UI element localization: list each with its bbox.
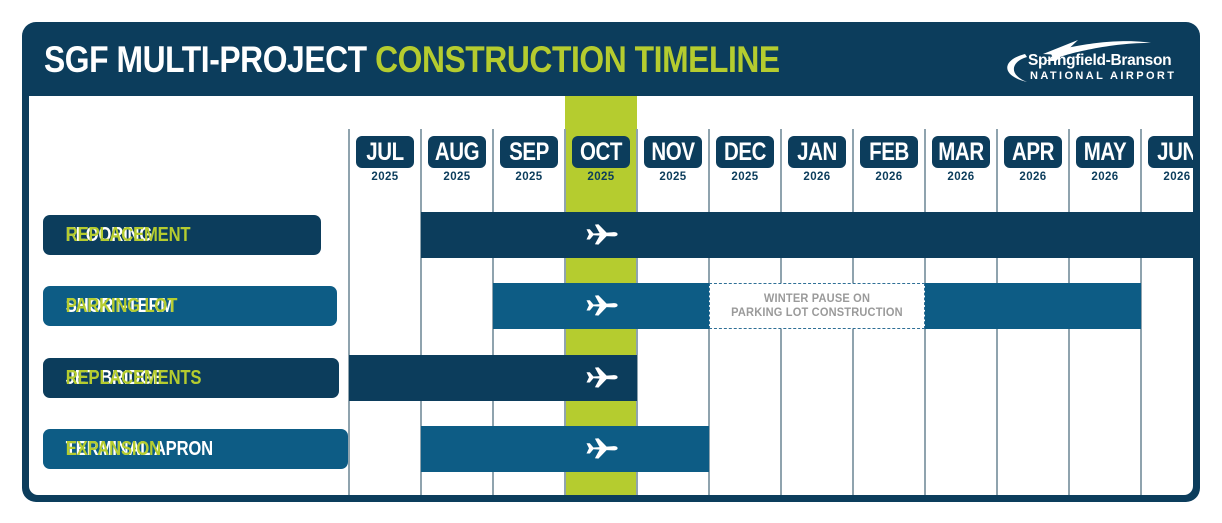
airplane-icon bbox=[578, 426, 624, 472]
month-pill: DEC bbox=[716, 136, 774, 168]
year-label: 2025 bbox=[637, 171, 709, 183]
month-column-oct[interactable]: OCT2025 bbox=[565, 136, 637, 196]
airplane-icon bbox=[578, 212, 624, 258]
month-column-mar[interactable]: MAR2026 bbox=[925, 136, 997, 196]
airport-logo: Springfield-Branson NATIONAL AIRPORT bbox=[983, 30, 1188, 90]
year-label: 2026 bbox=[1141, 171, 1193, 183]
month-column-apr[interactable]: APR2026 bbox=[997, 136, 1069, 196]
row-label-green: EXPANSION bbox=[66, 429, 161, 469]
month-column-feb[interactable]: FEB2026 bbox=[853, 136, 925, 196]
month-pill: APR bbox=[1004, 136, 1062, 168]
row-label-green: REPLACEMENT bbox=[66, 215, 191, 255]
month-pill: JUN bbox=[1148, 136, 1193, 168]
row-label-green: REPLACEMENTS bbox=[66, 358, 202, 398]
month-column-aug[interactable]: AUG2025 bbox=[421, 136, 493, 196]
year-label: 2026 bbox=[925, 171, 997, 183]
airplane-icon bbox=[578, 355, 624, 401]
winter-pause-box: WINTER PAUSE ONPARKING LOT CONSTRUCTION bbox=[709, 283, 925, 329]
month-column-may[interactable]: MAY2026 bbox=[1069, 136, 1141, 196]
month-pill: OCT bbox=[572, 136, 630, 168]
bar-terminal-apron-expansion[interactable] bbox=[421, 426, 709, 472]
timeline-card: SGF MULTI-PROJECT CONSTRUCTION TIMELINE … bbox=[22, 22, 1200, 502]
month-column-jun[interactable]: JUN2026 bbox=[1141, 136, 1193, 196]
logo-subtitle: NATIONAL AIRPORT bbox=[1030, 70, 1176, 82]
pause-line-2: PARKING LOT CONSTRUCTION bbox=[731, 305, 903, 319]
month-label: APR bbox=[1009, 136, 1057, 168]
year-label: 2025 bbox=[421, 171, 493, 183]
row-label-flooring-replacement[interactable]: FLOORING REPLACEMENT bbox=[43, 215, 321, 255]
month-label: FEB bbox=[865, 136, 913, 168]
month-column-jan[interactable]: JAN2026 bbox=[781, 136, 853, 196]
month-pill: JAN bbox=[788, 136, 846, 168]
year-label: 2025 bbox=[493, 171, 565, 183]
month-pill: FEB bbox=[860, 136, 918, 168]
month-label: MAR bbox=[937, 136, 985, 168]
year-label: 2025 bbox=[709, 171, 781, 183]
month-label: AUG bbox=[433, 136, 481, 168]
row-label-green: PARKING LOT bbox=[66, 286, 177, 326]
year-label: 2025 bbox=[565, 171, 637, 183]
month-label: JUL bbox=[361, 136, 409, 168]
month-label: OCT bbox=[577, 136, 625, 168]
month-column-nov[interactable]: NOV2025 bbox=[637, 136, 709, 196]
month-label: MAY bbox=[1081, 136, 1129, 168]
month-pill: SEP bbox=[500, 136, 558, 168]
header-bar: SGF MULTI-PROJECT CONSTRUCTION TIMELINE … bbox=[22, 22, 1200, 96]
month-label: JAN bbox=[793, 136, 841, 168]
title-part-white: SGF MULTI-PROJECT bbox=[44, 39, 375, 80]
month-label: JUN bbox=[1153, 136, 1193, 168]
month-column-dec[interactable]: DEC2025 bbox=[709, 136, 781, 196]
bar-flooring-replacement[interactable] bbox=[421, 212, 1193, 258]
month-pill: NOV bbox=[644, 136, 702, 168]
month-pill: MAR bbox=[932, 136, 990, 168]
page-title: SGF MULTI-PROJECT CONSTRUCTION TIMELINE bbox=[44, 39, 780, 81]
month-column-jul[interactable]: JUL2025 bbox=[349, 136, 421, 196]
month-pill: MAY bbox=[1076, 136, 1134, 168]
timeline-grid: JUL2025AUG2025SEP2025OCT2025NOV2025DEC20… bbox=[29, 96, 1193, 495]
year-label: 2026 bbox=[1069, 171, 1141, 183]
logo-name: Springfield-Branson bbox=[1028, 52, 1171, 70]
year-label: 2025 bbox=[349, 171, 421, 183]
airplane-icon bbox=[578, 283, 624, 329]
month-label: SEP bbox=[505, 136, 553, 168]
year-label: 2026 bbox=[853, 171, 925, 183]
row-label-terminal-apron-expansion[interactable]: TERMINAL APRON EXPANSION bbox=[43, 429, 348, 469]
month-pill: AUG bbox=[428, 136, 486, 168]
month-label: NOV bbox=[649, 136, 697, 168]
month-label: DEC bbox=[721, 136, 769, 168]
title-part-green: CONSTRUCTION TIMELINE bbox=[375, 39, 780, 80]
pause-line-1: WINTER PAUSE ON bbox=[764, 291, 870, 305]
year-label: 2026 bbox=[997, 171, 1069, 183]
month-pill: JUL bbox=[356, 136, 414, 168]
year-label: 2026 bbox=[781, 171, 853, 183]
month-column-sep[interactable]: SEP2025 bbox=[493, 136, 565, 196]
row-label-short-term-parking-lot[interactable]: SHORT-TERM PARKING LOT bbox=[43, 286, 337, 326]
row-label-jet-bridge-replacements[interactable]: JET BRIDGE REPLACEMENTS bbox=[43, 358, 339, 398]
winter-pause-text: WINTER PAUSE ONPARKING LOT CONSTRUCTION bbox=[719, 291, 916, 319]
